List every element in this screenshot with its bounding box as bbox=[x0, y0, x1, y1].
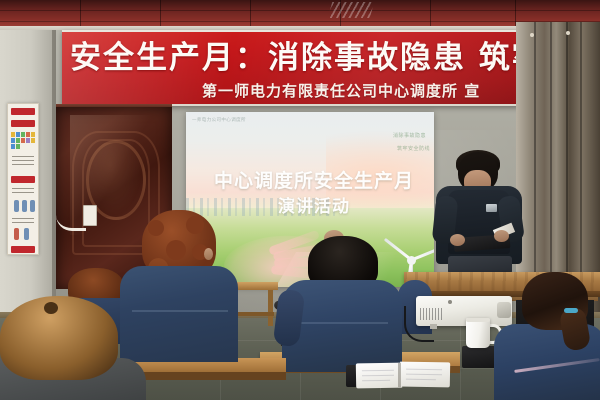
banner-main-text: 安全生产月：消除事故隐患 筑牢安全防线 bbox=[70, 36, 588, 80]
slide-title-line1: 中心调度所安全生产月 bbox=[200, 166, 428, 193]
notebook-right-page bbox=[400, 362, 450, 388]
frame-screw-icon bbox=[566, 31, 570, 35]
slide-tag-line1: 消除事故隐患 bbox=[393, 132, 426, 139]
projector-power-button[interactable] bbox=[448, 300, 452, 304]
audience-blonde-foreground bbox=[0, 300, 140, 400]
red-wall-banner: 安全生产月：消除事故隐患 筑牢安全防线 第一师电力有限责任公司中心调度所 宣 bbox=[62, 30, 588, 106]
hair-tie bbox=[564, 308, 578, 313]
mug-rim bbox=[466, 318, 490, 322]
open-notebook[interactable] bbox=[346, 363, 452, 389]
speaker-right-hand bbox=[494, 230, 509, 242]
hair-parting bbox=[44, 302, 58, 314]
light-switch[interactable] bbox=[83, 205, 97, 226]
notebook-spine bbox=[398, 363, 401, 387]
speaker-chest-badge bbox=[486, 204, 497, 212]
slide-corner-text: 一师电力公司中心调度所 bbox=[192, 117, 246, 123]
jacket-seam bbox=[296, 322, 388, 324]
slide-tag-line2: 筑牢安全防线 bbox=[397, 145, 430, 152]
audience-hair bbox=[0, 296, 118, 380]
speaker-left-hand bbox=[450, 234, 465, 246]
audience-ear bbox=[204, 248, 213, 260]
notebook-left-page bbox=[356, 363, 402, 389]
frame-screw-icon bbox=[530, 33, 534, 37]
jacket-seam bbox=[132, 310, 228, 312]
white-mug[interactable] bbox=[466, 318, 490, 348]
audience-ponytail-woman bbox=[500, 272, 600, 400]
ceiling-vent bbox=[328, 2, 375, 18]
meeting-room-photo: 安全生产月：消除事故隐患 筑牢安全防线 第一师电力有限责任公司中心调度所 宣 bbox=[0, 0, 600, 400]
projector-foot bbox=[430, 324, 437, 329]
audience-center-man bbox=[282, 236, 402, 366]
small-black-box bbox=[462, 346, 498, 368]
standing-speaker bbox=[432, 152, 528, 277]
wall-poster bbox=[7, 103, 39, 255]
projector-vent bbox=[420, 308, 442, 320]
